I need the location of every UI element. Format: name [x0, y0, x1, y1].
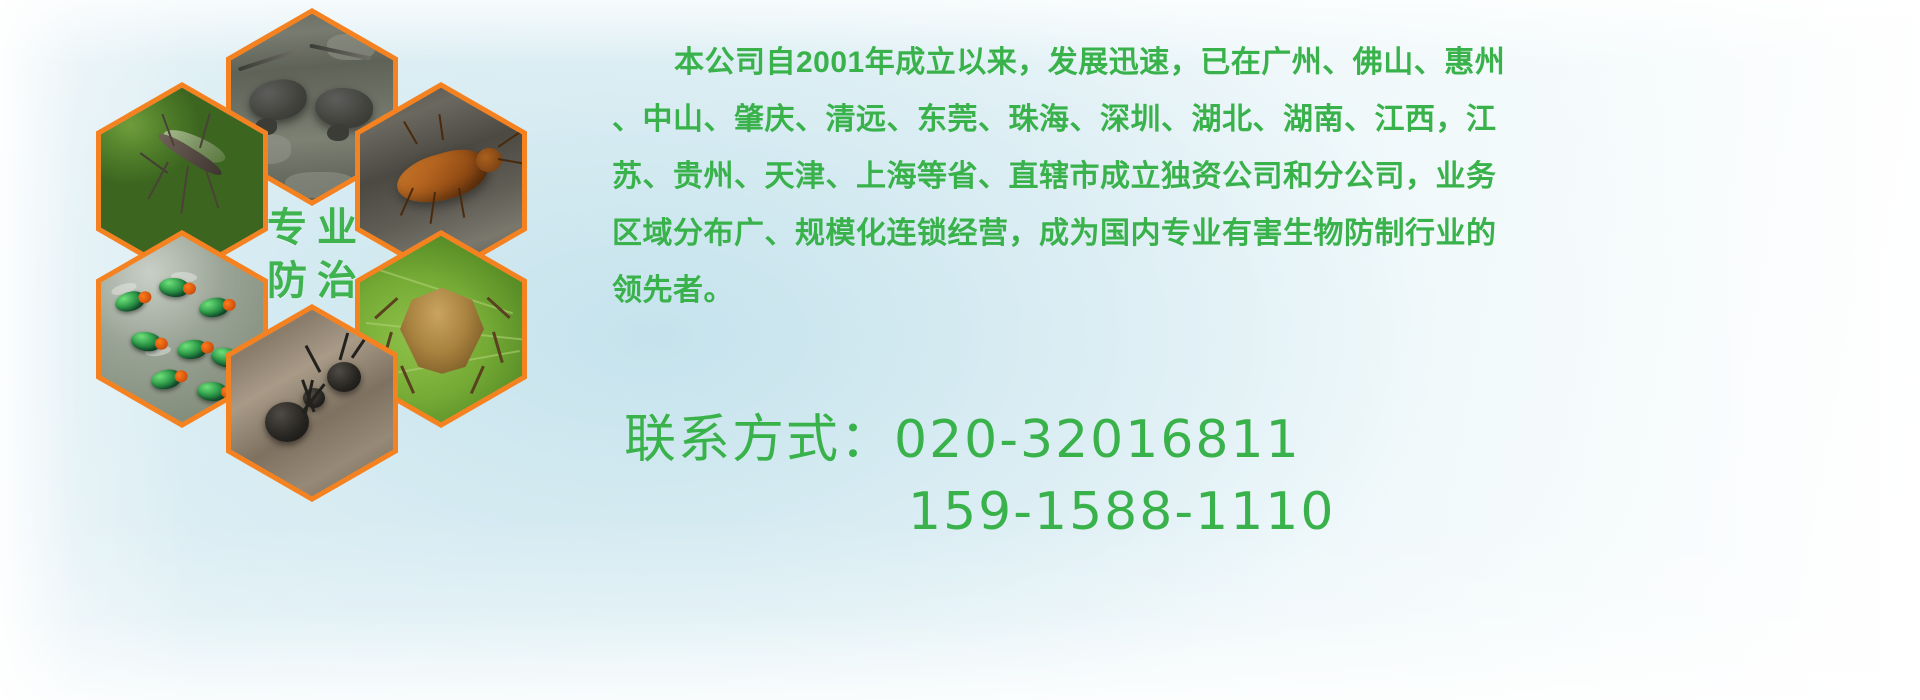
intro-line: 、中山、肇庆、清远、东莞、珠海、深圳、湖北、湖南、江西，江	[612, 91, 1882, 148]
intro-line: 本公司自2001年成立以来，发展迅速，已在广州、佛山、惠州	[612, 34, 1882, 91]
contact-phone-primary[interactable]: 联系方式：020-32016811	[624, 404, 1624, 476]
badge-line-1: 专业	[257, 205, 367, 252]
badge-line-2: 防治	[257, 258, 367, 305]
contact-block: 联系方式：020-32016811 159-1588-1110	[624, 404, 1624, 548]
company-intro-paragraph: 本公司自2001年成立以来，发展迅速，已在广州、佛山、惠州 、中山、肇庆、清远、…	[612, 34, 1882, 319]
contact-phone-secondary[interactable]: 159-1588-1110	[624, 476, 1624, 548]
intro-line: 苏、贵州、天津、上海等省、直辖市成立独资公司和分公司，业务	[612, 148, 1882, 205]
hex-photo-ant	[231, 310, 393, 496]
intro-line: 区域分布广、规模化连锁经营，成为国内专业有害生物防制行业的	[612, 205, 1882, 262]
promo-banner: 专业 防治	[0, 0, 1920, 700]
honeycomb-gallery: 专业 防治	[80, 8, 600, 568]
intro-line: 领先者。	[612, 262, 1882, 319]
